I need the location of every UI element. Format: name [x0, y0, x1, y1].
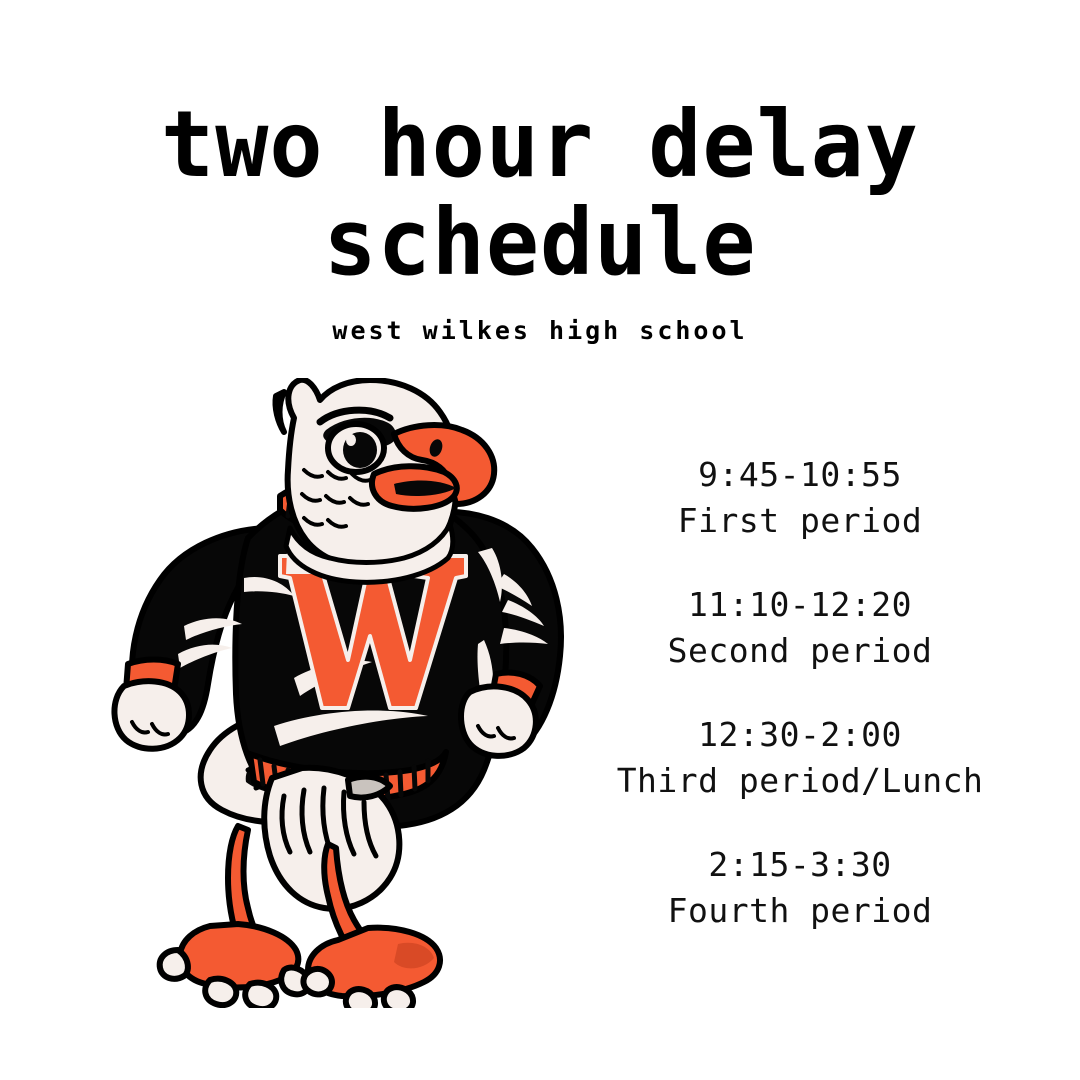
head-crest — [275, 392, 284, 432]
schedule-entry-4: 2:15-3:30 Fourth period — [580, 842, 1020, 934]
schedule-entry-2: 11:10-12:20 Second period — [580, 582, 1020, 674]
school-name-subtitle: west wilkes high school — [0, 316, 1080, 345]
schedule-entry-3: 12:30-2:00 Third period/Lunch — [580, 712, 1020, 804]
schedule-entry-1: 9:45-10:55 First period — [580, 452, 1020, 544]
schedule-label-2: Second period — [580, 628, 1020, 674]
eagle-eye-glint — [346, 434, 356, 446]
heading-block: two hour delay schedule west wilkes high… — [0, 96, 1080, 345]
schedule-list: 9:45-10:55 First period 11:10-12:20 Seco… — [580, 452, 1020, 934]
leg-grey-patch — [348, 777, 390, 798]
schedule-time-2: 11:10-12:20 — [580, 582, 1020, 628]
page-title-line-2: schedule — [22, 194, 1059, 292]
schedule-label-3: Third period/Lunch — [580, 758, 1020, 804]
left-fist — [114, 681, 189, 749]
page-title-line-1: two hour delay — [22, 96, 1059, 194]
right-fist — [461, 686, 536, 755]
schedule-time-4: 2:15-3:30 — [580, 842, 1020, 888]
schedule-time-3: 12:30-2:00 — [580, 712, 1020, 758]
schedule-time-1: 9:45-10:55 — [580, 452, 1020, 498]
schedule-label-1: First period — [580, 498, 1020, 544]
eagle-mascot-illustration — [98, 378, 608, 1008]
schedule-label-4: Fourth period — [580, 888, 1020, 934]
poster-canvas: two hour delay schedule west wilkes high… — [0, 0, 1080, 1080]
